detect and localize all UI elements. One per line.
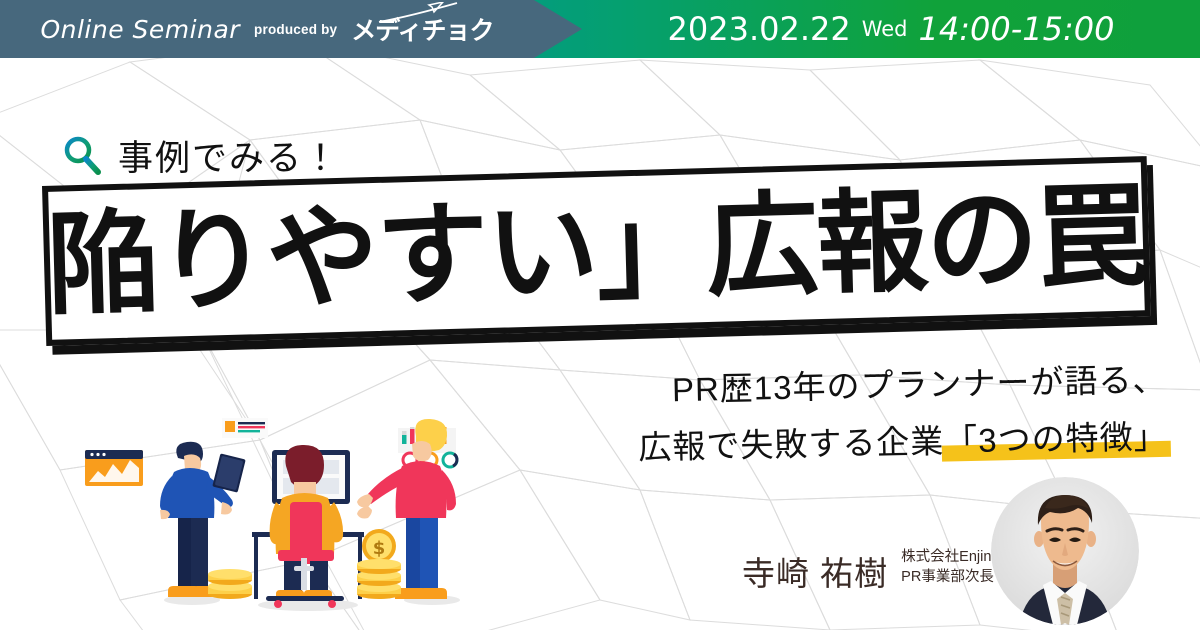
speaker-organization: 株式会社Enjin (901, 548, 994, 568)
online-seminar-label: Online Seminar (40, 15, 240, 44)
business-people-illustration: $ (80, 398, 480, 630)
subtitle-highlight: 「3つの特徴」 (944, 410, 1168, 463)
seminar-day-of-week: Wed (862, 17, 908, 41)
magnifier-icon (62, 135, 104, 177)
dollar-coin-icon: $ (357, 529, 401, 599)
seminar-time-range: 14:00-15:00 (919, 10, 1115, 48)
speaker-name: 寺崎 祐樹 (742, 557, 888, 590)
title-plate-box: 陥りやすい」広報の罠 (42, 156, 1151, 346)
speaker-role: PR事業部次長 (901, 568, 994, 588)
coin-stack-icon (208, 569, 252, 599)
svg-text:$: $ (373, 538, 386, 559)
document-card-icon (222, 418, 268, 438)
produced-by-label: produced by (254, 22, 337, 37)
subtitle-line-2-prefix: 広報で失敗する企業 (638, 423, 945, 466)
speaker-info: 寺崎 祐樹 株式会社Enjin PR事業部次長 (742, 548, 994, 590)
header-brand-group: Online Seminar produced by メディチョク (0, 0, 534, 58)
header-bar: Online Seminar produced by メディチョク 2023.0… (0, 0, 1200, 58)
eyebrow-row: 事例でみる！ (62, 130, 340, 181)
seminar-date: 2023.02.22 (668, 10, 851, 48)
subtitle-block: PR歴13年のプランナーが語る、 広報で失敗する企業「3つの特徴」 (540, 353, 1168, 471)
mediachoku-logo[interactable]: メディチョク (351, 11, 493, 47)
header-datetime-group: 2023.02.22 Wed 14:00-15:00 (582, 0, 1200, 58)
speaker-portrait-image (991, 477, 1139, 625)
speaker-avatar (991, 477, 1139, 625)
speaker-affiliation: 株式会社Enjin PR事業部次長 (901, 548, 994, 590)
main-title-text: 陥りやすい」広報の罠 (45, 180, 1148, 322)
eyebrow-text: 事例でみる！ (118, 130, 340, 181)
browser-chart-icon (85, 450, 143, 486)
mediachoku-logo-text: メディチョク (351, 11, 493, 47)
main-title-plate: 陥りやすい」広報の罠 (42, 156, 1156, 354)
seminar-banner: Online Seminar produced by メディチョク 2023.0… (0, 0, 1200, 630)
